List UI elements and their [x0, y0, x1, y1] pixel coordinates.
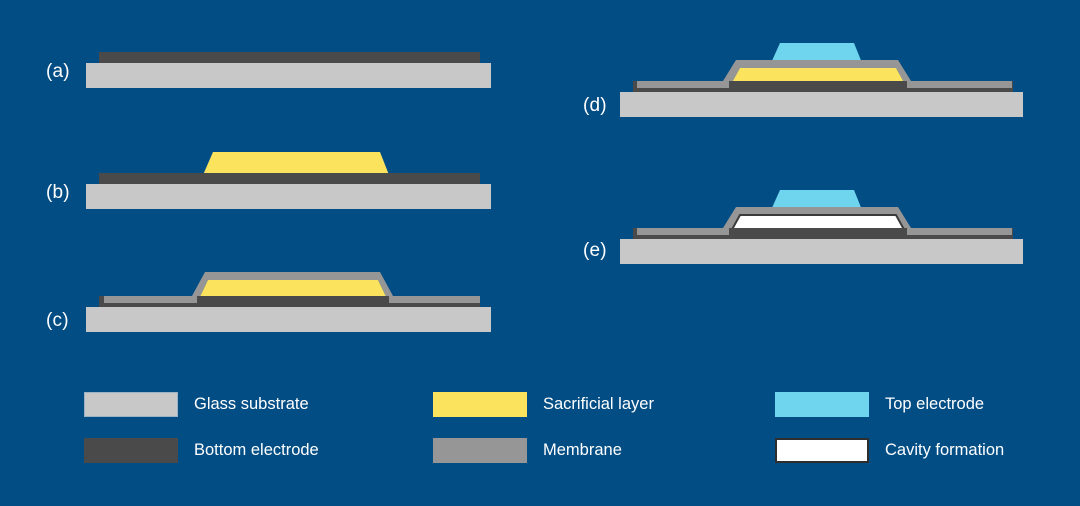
membrane-swatch: [433, 438, 527, 463]
legend-label-membrane: Membrane: [543, 441, 622, 460]
cavity-formation-swatch: [775, 438, 869, 463]
legend-label-top-electrode: Top electrode: [885, 395, 984, 414]
legend-label-cavity-formation: Cavity formation: [885, 441, 1004, 460]
top-electrode-swatch: [775, 392, 869, 417]
membrane-left-wing: [637, 228, 729, 235]
legend: Glass substrate Bottom electrode Sacrifi…: [84, 392, 1024, 472]
glass-substrate-layer: [620, 239, 1023, 264]
process-flow-figure: (a) (b) (c): [0, 0, 1080, 506]
legend-item-bottom-electrode: Bottom electrode: [84, 438, 319, 463]
legend-item-sacrificial-layer: Sacrificial layer: [433, 392, 654, 417]
legend-label-sacrificial-layer: Sacrificial layer: [543, 395, 654, 414]
legend-item-top-electrode: Top electrode: [775, 392, 984, 417]
legend-label-bottom-electrode: Bottom electrode: [194, 441, 319, 460]
legend-item-cavity-formation: Cavity formation: [775, 438, 1004, 463]
bottom-electrode-swatch: [84, 438, 178, 463]
membrane-right-wing: [907, 228, 1012, 235]
legend-label-glass-substrate: Glass substrate: [194, 395, 309, 414]
sacrificial-layer-swatch: [433, 392, 527, 417]
legend-item-glass-substrate: Glass substrate: [84, 392, 309, 417]
glass-substrate-swatch: [84, 392, 178, 417]
legend-item-membrane: Membrane: [433, 438, 622, 463]
